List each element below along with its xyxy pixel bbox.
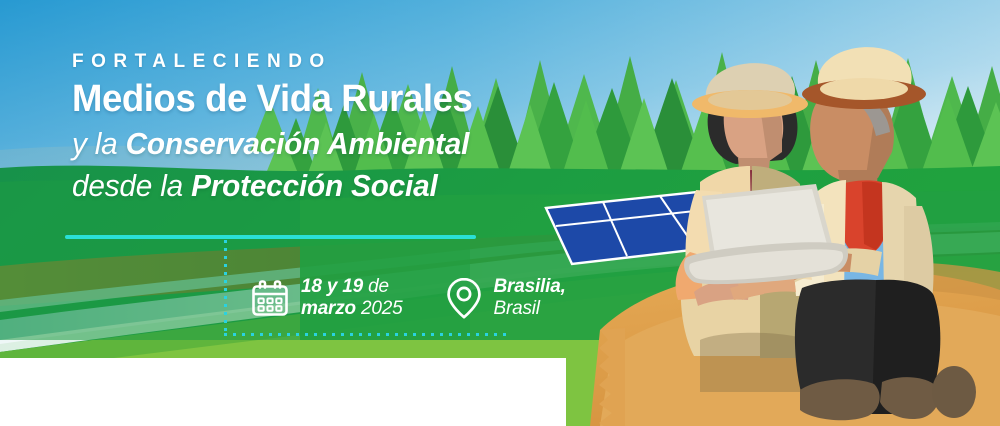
logo-ministerio[interactable]: MINISTERIO DE MEDIO AMBIENTE Y CAMBIO CL… (321, 376, 421, 409)
ministerio-line-3: CAMBIO CLIMÁTICO (321, 398, 421, 409)
cyan-vertical-dotted-line (224, 240, 227, 336)
fao-name: Organización de las Naciones Unidas para… (61, 376, 174, 408)
event-date-de: de (363, 276, 389, 297)
ministerio-line-2: MEDIO AMBIENTE Y (321, 387, 421, 398)
event-date-days: 18 y 19 (301, 276, 363, 297)
title-line-3: desde la Protección Social (72, 165, 571, 207)
event-date-line-1: 18 y 19 de (301, 276, 403, 298)
svg-text:O: O (39, 384, 46, 394)
title-line-3-bold: Protección Social (191, 168, 437, 203)
gobierno-bottom-text: UNIÓN Y RECONSTRUCCIÓN (437, 407, 541, 416)
event-banner: FORTALECIENDO Medios de Vida Rurales y l… (0, 0, 1000, 426)
ministerio-line-1: MINISTERIO DE (321, 376, 421, 387)
gobierno-top-text: GOBIERNO DE BRASIL (437, 369, 541, 379)
fao-emblem-icon: F A O FIAT PANIS (14, 372, 54, 412)
event-date-month: marzo (301, 298, 356, 319)
svg-text:A: A (31, 381, 37, 390)
event-details: 18 y 19 de marzo 2025 Brasilia, Brasil (250, 276, 566, 320)
title-line-1: Medios de Vida Rurales (72, 76, 571, 122)
calendar-icon (250, 278, 290, 318)
cyan-horizontal-rule (65, 235, 476, 239)
headline-block: FORTALECIENDO Medios de Vida Rurales y l… (72, 50, 592, 207)
cyan-horizontal-dotted-line (224, 333, 512, 336)
bid-swirl-icon (202, 375, 244, 409)
map-pin-icon (445, 276, 483, 320)
logo-fao[interactable]: F A O FIAT PANIS Organización de las Nac… (14, 372, 174, 412)
bid-wordmark: BID (245, 377, 295, 407)
partner-logos: F A O FIAT PANIS Organización de las Nac… (0, 358, 566, 426)
brasil-wordmark-icon (437, 379, 541, 407)
event-date-text: 18 y 19 de marzo 2025 (301, 276, 403, 320)
svg-text:F: F (23, 384, 29, 394)
event-country: Brasil (494, 298, 566, 320)
event-location-text: Brasilia, Brasil (494, 276, 566, 320)
title-line-2-bold: Conservación Ambiental (126, 126, 470, 161)
title-line-2-light: y la (72, 126, 126, 161)
eyebrow-text: FORTALECIENDO (72, 50, 592, 74)
event-date-line-2: marzo 2025 (301, 298, 403, 320)
event-city: Brasilia, (494, 276, 566, 298)
event-location: Brasilia, Brasil (445, 276, 566, 320)
svg-text:FIAT PANIS: FIAT PANIS (24, 401, 44, 405)
logo-gobierno-brasil[interactable]: GOBIERNO DE BRASIL (437, 369, 541, 416)
title-line-2: y la Conservación Ambiental (72, 123, 571, 165)
event-date-year: 2025 (356, 298, 403, 319)
event-date: 18 y 19 de marzo 2025 (250, 276, 403, 320)
logo-bid[interactable]: BID (202, 375, 295, 409)
title-line-3-light: desde la (72, 168, 191, 203)
